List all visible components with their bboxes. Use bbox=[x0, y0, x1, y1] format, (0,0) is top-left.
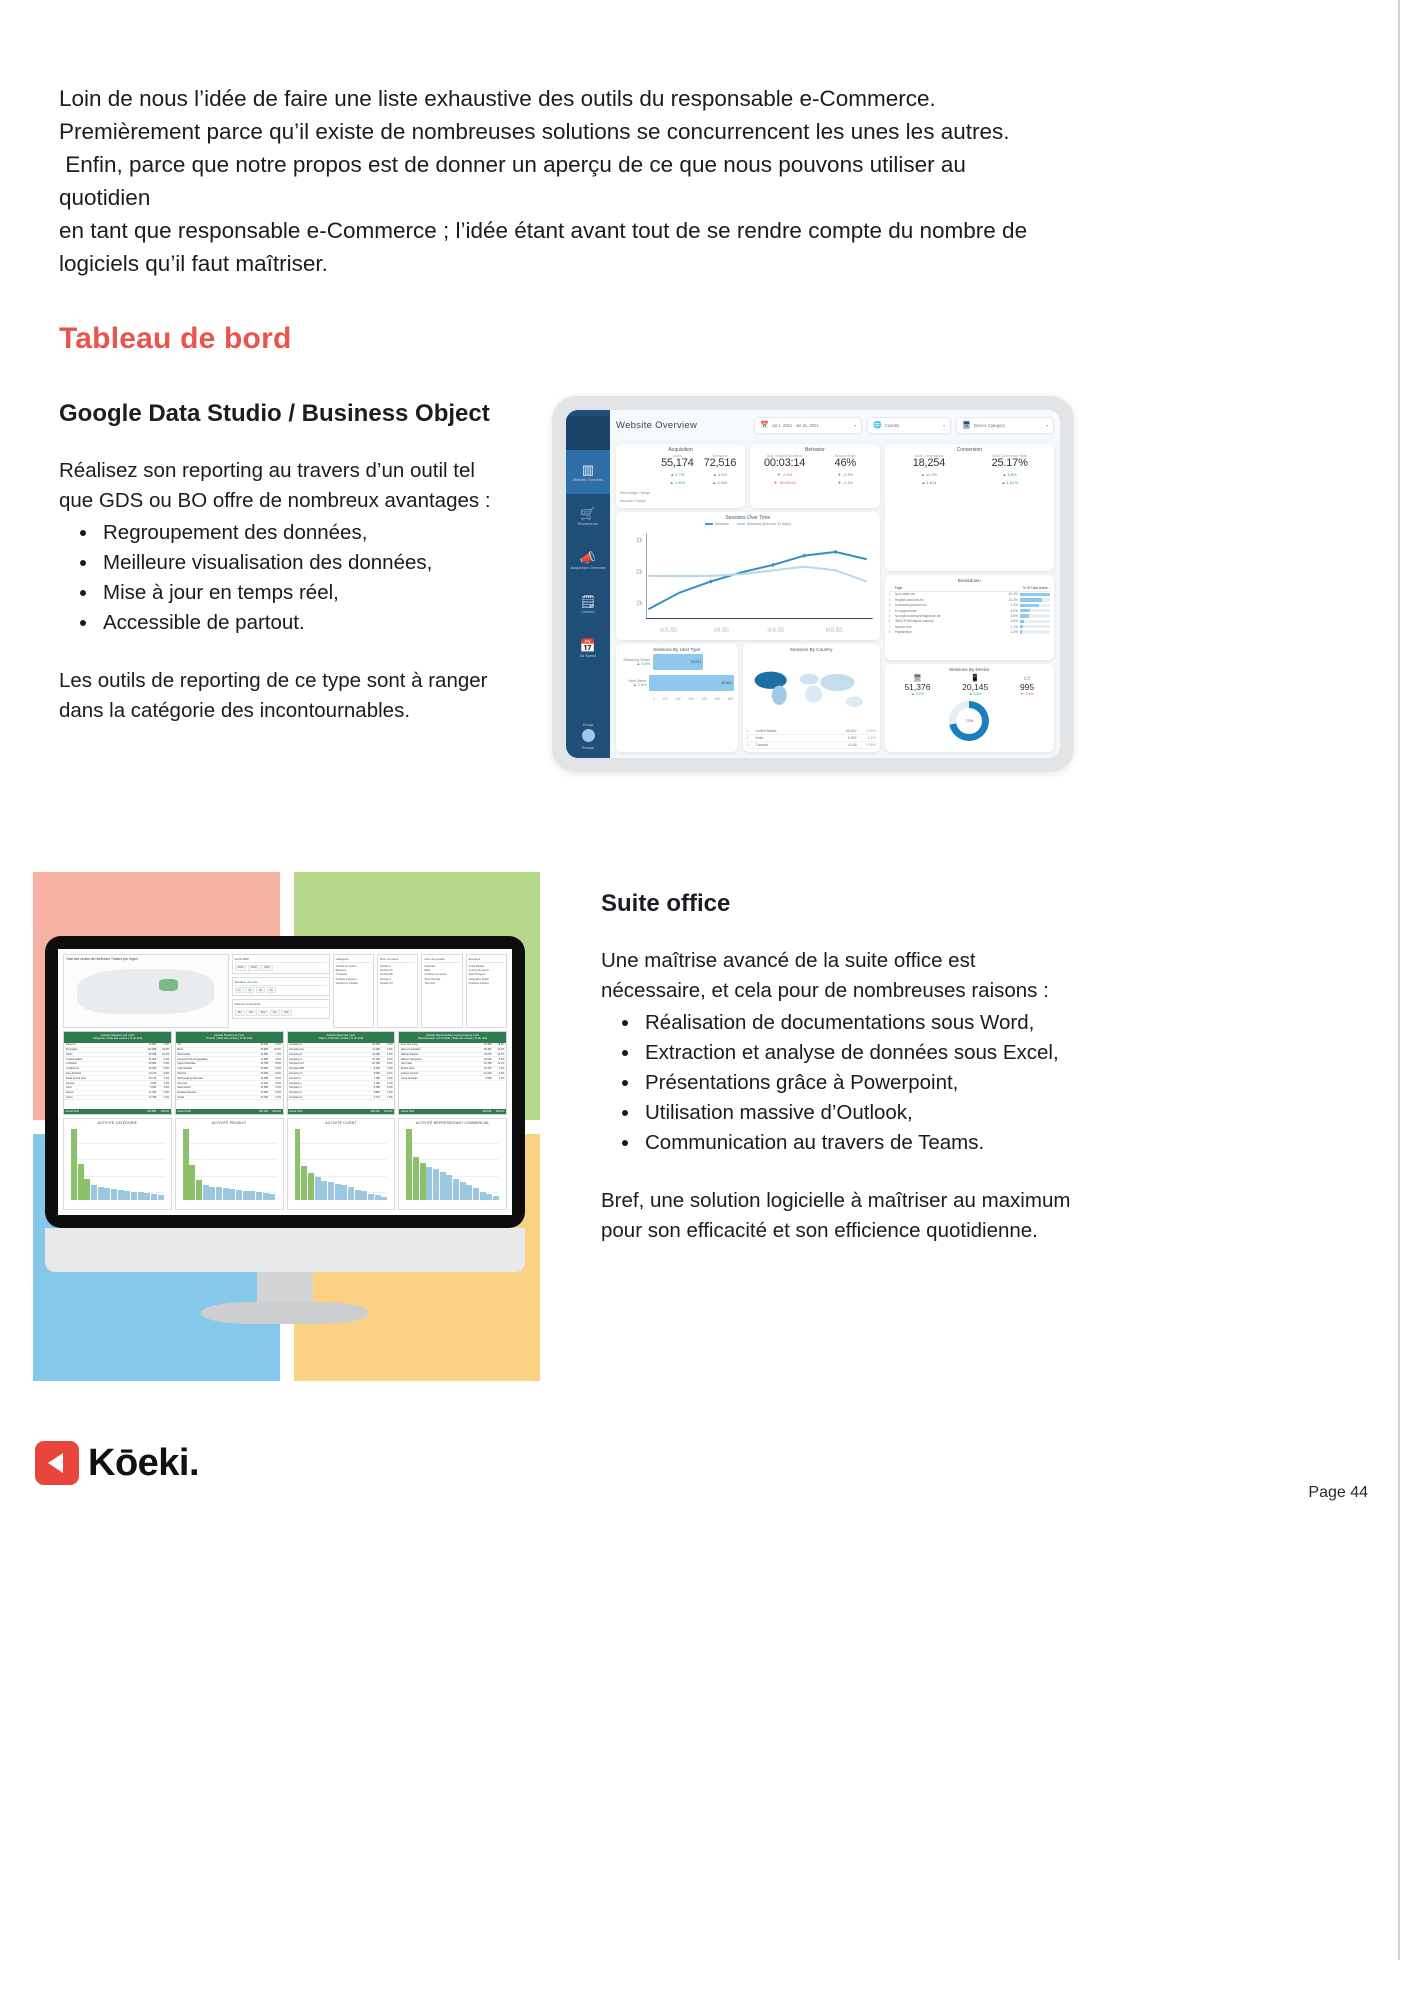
list-nom-produit[interactable]: Nom de produit Amandes Bière Confiture d… bbox=[421, 954, 462, 1028]
country-pct: -1.4% bbox=[860, 736, 876, 740]
cart-icon: 🛒 bbox=[580, 507, 596, 520]
slicer-chip[interactable]: S3 bbox=[256, 987, 265, 993]
gds-column: Google Data Studio / Business Object Réa… bbox=[59, 398, 514, 726]
bar bbox=[131, 1192, 137, 1200]
mobile-icon: 📱 bbox=[962, 674, 988, 682]
bar bbox=[78, 1164, 84, 1200]
chart-title: Sessions By User Type bbox=[620, 647, 734, 652]
world-map bbox=[747, 654, 876, 728]
page-path: /a-second-product-mv bbox=[895, 603, 1005, 607]
chart-title: ACTIVITÉ CATÉGORIE bbox=[64, 1119, 171, 1126]
monitor-mockup-image: Total des ventes de Northwind Traders pa… bbox=[45, 936, 525, 1326]
kpi-pct-change: ▲ 6.8% bbox=[1003, 472, 1017, 477]
bar bbox=[158, 1195, 164, 1200]
kpi-abs-change: ▼ -00:00:04 bbox=[774, 480, 796, 485]
bar-row: New Visitor ▲ 2.6% 49,541 bbox=[620, 675, 734, 691]
slicer-title: Semaine du mois bbox=[235, 980, 327, 986]
donut-label: 72% bbox=[949, 701, 989, 741]
date-range-filter[interactable]: 📅 Jul 1, 2021 - Jul 31, 2021 ▾ bbox=[754, 417, 862, 434]
pct-value: 1.3% bbox=[1005, 630, 1018, 634]
bar bbox=[183, 1129, 189, 1200]
office-closing: Bref, une solution logicielle à maîtrise… bbox=[601, 1186, 1071, 1246]
bar bbox=[375, 1195, 381, 1200]
bar-track bbox=[1020, 593, 1050, 596]
country-value: 33,412 bbox=[841, 729, 857, 733]
svg-text:Jul 01, 2021: Jul 01, 2021 bbox=[660, 626, 677, 634]
kpi-value: 25.17% bbox=[992, 457, 1028, 469]
bar bbox=[426, 1167, 432, 1200]
chart-title: ACTIVITÉ CLIENT bbox=[288, 1119, 395, 1126]
kpi-row: Acquisition Percentage Change Absolute C… bbox=[616, 444, 880, 508]
kpi-card-acquisition: Acquisition Percentage Change Absolute C… bbox=[616, 444, 745, 508]
table-row: Company K2 7341.0% bbox=[288, 1096, 395, 1101]
sessions-by-user-type-chart: Sessions By User Type Returning Visitor … bbox=[616, 644, 738, 752]
monitor-chin bbox=[45, 1228, 525, 1272]
slicer-chip[interactable]: S2 bbox=[245, 987, 254, 993]
pct-value: 7.4% bbox=[1005, 603, 1018, 607]
bar bbox=[236, 1190, 242, 1200]
section-title: Tableau de bord bbox=[59, 322, 291, 356]
page-number: Page 44 bbox=[1308, 1484, 1368, 1502]
table-row: 1United States33,412+2.1% bbox=[747, 728, 876, 735]
slicer-chip[interactable]: 2019 bbox=[235, 965, 247, 971]
kpi-abs-change: ▲ 2,910 bbox=[712, 480, 727, 485]
axis-tick: 50K bbox=[715, 697, 721, 701]
list-item[interactable]: Charlène Leblanc bbox=[469, 981, 504, 985]
country-value: 4,118 bbox=[841, 743, 857, 747]
bar bbox=[263, 1193, 269, 1200]
page-path: /your-style-mv bbox=[895, 592, 1005, 596]
svg-text:Jul 15, 2021: Jul 15, 2021 bbox=[767, 626, 784, 634]
kpi-group-label: Acquisition bbox=[620, 447, 741, 453]
kpi-metric-goal-completions: Goal Completions 18,254 ▲ 11.2% ▲ 1,814 bbox=[889, 454, 970, 568]
logo-text: Kōeki. bbox=[88, 1442, 199, 1485]
device-metrics-row: 🖥 51,376 ▲ 3.7% 📱 20,145 ▲ 1.4% bbox=[889, 674, 1050, 696]
country-name: India bbox=[756, 736, 838, 740]
pivot-table: Activité Client par mois Client | Total … bbox=[287, 1031, 396, 1115]
chart-title: ACTIVITÉ PRODUIT bbox=[176, 1119, 283, 1126]
bar bbox=[71, 1129, 77, 1200]
pareto-chart: ACTIVITÉ REPRÉSENTANT COMMERCIAL bbox=[398, 1118, 507, 1210]
bar bbox=[151, 1194, 157, 1200]
bar-series bbox=[183, 1129, 276, 1200]
sidebar-footer-label: Reload bbox=[582, 746, 594, 750]
pareto-chart: ACTIVITÉ CLIENT bbox=[287, 1118, 396, 1210]
chart-plot-area bbox=[64, 1126, 171, 1209]
slicer-date-commande[interactable]: Date de commande Jan Fév Mar Avr Mai bbox=[232, 999, 330, 1019]
bar bbox=[413, 1157, 419, 1200]
grand-total-row: Grand Total303 182100.0% bbox=[176, 1109, 283, 1114]
bar bbox=[118, 1190, 124, 1200]
bar-series bbox=[295, 1129, 388, 1200]
intro-line-2: Premièrement parce qu’il existe de nombr… bbox=[59, 115, 1034, 148]
bar bbox=[361, 1191, 367, 1200]
megaphone-icon: 📣 bbox=[580, 551, 596, 564]
row-index: 2 bbox=[747, 736, 753, 740]
bar-series bbox=[71, 1129, 164, 1200]
office-bullet-list: Réalisation de documentations sous Word,… bbox=[601, 1008, 1071, 1158]
kpi-card-behavior: Behavior Avg. Session Duration 00:03:14 … bbox=[750, 444, 879, 508]
pct-value: 10.2% bbox=[1005, 598, 1018, 602]
slicer-chip[interactable]: Mar bbox=[258, 1010, 268, 1016]
bar bbox=[84, 1179, 90, 1200]
svg-text:10k: 10k bbox=[636, 601, 642, 609]
date-range-label: Jul 1, 2021 - Jul 31, 2021 bbox=[772, 423, 819, 428]
country-name: Canada bbox=[756, 743, 838, 747]
page-path: /saucer-line bbox=[895, 625, 1005, 629]
kpi-pct-change: ▲ 4.2% bbox=[713, 472, 727, 477]
bar-track bbox=[1020, 620, 1050, 623]
list-item[interactable]: Thé Chai bbox=[424, 981, 459, 985]
bar bbox=[144, 1193, 150, 1200]
list-item: Réalisation de documentations sous Word, bbox=[641, 1008, 1071, 1038]
list-item: Accessible de partout. bbox=[99, 608, 514, 638]
bar bbox=[473, 1188, 479, 1200]
dashboard-title: Website Overview bbox=[616, 420, 697, 431]
bar bbox=[460, 1182, 466, 1200]
slicer-title: Vente BDP bbox=[235, 957, 327, 963]
kpi-value: 18,254 bbox=[913, 457, 945, 469]
usa-map-shape bbox=[77, 969, 214, 1014]
bar-track bbox=[1020, 609, 1050, 612]
excel-map-panel: Total des ventes de Northwind Traders pa… bbox=[63, 954, 229, 1028]
pct-value: 1.7% bbox=[1005, 625, 1018, 629]
column-pct[interactable]: % Of Total Users ↑ bbox=[1005, 586, 1050, 590]
pivot-table-title: Activité Représentant commercial par moi… bbox=[399, 1032, 506, 1043]
country-filter-label: Country bbox=[885, 423, 900, 428]
bar-track bbox=[1020, 604, 1050, 607]
map-highlight-region bbox=[159, 979, 179, 991]
kpi-metric-sessions: Sessions 72,516 ▲ 4.2% ▲ 2,910 bbox=[699, 454, 742, 505]
kpi-pct-change: ▼ -2.3% bbox=[837, 472, 853, 477]
kpi-pct-change: ▲ 3.7% bbox=[670, 472, 684, 477]
slicer-chip[interactable]: S4 bbox=[267, 987, 276, 993]
country-name: United States bbox=[756, 729, 838, 733]
device-tablet: ▭ 995 ▼ -0.6% bbox=[1020, 674, 1034, 696]
sidebar-item-ad-spend[interactable]: 📅 Ad Spend bbox=[566, 626, 610, 670]
bar bbox=[301, 1166, 307, 1200]
country-filter[interactable]: 🌐 Country ▾ bbox=[867, 417, 951, 434]
slicer-chip[interactable]: Jan bbox=[235, 1010, 245, 1016]
bar bbox=[308, 1173, 314, 1200]
sidebar-item-label: Website Overview bbox=[573, 478, 604, 482]
pct-value: 4.9% bbox=[1005, 609, 1018, 613]
intro-paragraph: Loin de nous l’idée de faire une liste e… bbox=[59, 82, 1034, 280]
bar bbox=[104, 1188, 110, 1200]
bar-axis: 0 10K 20K 30K 40K 50K 60K bbox=[620, 697, 734, 701]
dashboard-topbar: Website Overview 📅 Jul 1, 2021 - Jul 31,… bbox=[610, 410, 1060, 440]
bar bbox=[111, 1189, 117, 1200]
chart-title: Sessions By Device bbox=[889, 667, 1050, 672]
gds-paragraph: Réalisez son reporting au travers d’un o… bbox=[59, 456, 514, 516]
table-row: 2India6,902-1.4% bbox=[747, 735, 876, 742]
kpi-row-label: Percentage Change bbox=[620, 491, 656, 495]
bar-delta: ▲ 5.6% bbox=[620, 662, 650, 666]
sessions-over-time-chart: Sessions Over Time Sessions Sessions (pr… bbox=[616, 512, 880, 640]
svg-text:Jul 8, 2021: Jul 8, 2021 bbox=[714, 626, 729, 634]
kpi-abs-change: ▲ 1,953 bbox=[670, 480, 685, 485]
bar bbox=[315, 1177, 321, 1200]
chart-plot-area: 30k 20k 10k Jul 01, bbox=[621, 526, 875, 637]
intro-line-5: logiciels qu’il faut maîtriser. bbox=[59, 247, 1034, 280]
device-desktop: 🖥 51,376 ▲ 3.7% bbox=[904, 674, 930, 696]
pivot-table-title: Activité Produit par mois Produit | Tota… bbox=[176, 1032, 283, 1043]
bar-track bbox=[1020, 598, 1050, 601]
slicer-chips: S1 S2 S3 S4 bbox=[235, 987, 327, 993]
grand-total-row: Grand Total303 182100.0% bbox=[288, 1109, 395, 1114]
list-item[interactable]: Viandes et Volailles bbox=[336, 981, 371, 985]
legend-swatch-icon bbox=[705, 523, 713, 525]
list-item: Extraction et analyse de données sous Ex… bbox=[641, 1038, 1071, 1068]
svg-text:20k: 20k bbox=[636, 569, 642, 577]
page-path: /english-account-mt bbox=[895, 598, 1005, 602]
sidebar-item-ecommerce[interactable]: 🛒 Ecommerce bbox=[566, 494, 610, 538]
slicer-chip[interactable]: Avr bbox=[270, 1010, 280, 1016]
country-list: 1United States33,412+2.1% 2India6,902-1.… bbox=[747, 728, 876, 749]
list-item: Meilleure visualisation des données, bbox=[99, 548, 514, 578]
chevron-down-icon: ▾ bbox=[854, 423, 856, 428]
pareto-chart: ACTIVITÉ PRODUIT bbox=[175, 1118, 284, 1210]
office-paragraph: Une maîtrise avancé de la suite office e… bbox=[601, 946, 1071, 1006]
bar bbox=[256, 1192, 262, 1200]
kpi-value: 55,174 bbox=[661, 457, 693, 469]
kpi-metric-avg-session-duration: Avg. Session Duration 00:03:14 ▼ -2.1% ▼… bbox=[754, 454, 815, 505]
bar-value: 23,512 bbox=[691, 660, 701, 664]
chart-plot-area bbox=[288, 1126, 395, 1209]
bar bbox=[493, 1196, 499, 1200]
svg-text:Jul 22, 2021: Jul 22, 2021 bbox=[826, 626, 843, 634]
list-title: Nom de produit bbox=[424, 957, 459, 963]
table-row: 8/registration1.3% bbox=[889, 629, 1050, 634]
sidebar-item-website-overview[interactable]: ▥ Website Overview bbox=[566, 450, 610, 494]
list-title: Catégorie bbox=[336, 957, 371, 963]
slicer-chip[interactable]: 2020 bbox=[248, 965, 260, 971]
country-value: 6,902 bbox=[841, 736, 857, 740]
legend-swatch-icon bbox=[737, 523, 745, 525]
page-path: /360/LP-MC/liquid-makeup bbox=[895, 619, 1005, 623]
tablet-frame: ▥ Website Overview 🛒 Ecommerce 📣 Acquisi… bbox=[552, 396, 1074, 772]
axis-tick: 40K bbox=[702, 697, 708, 701]
bar bbox=[196, 1180, 202, 1200]
slicer-chip[interactable]: Mai bbox=[281, 1010, 291, 1016]
kpi-row-label: Absolute Change bbox=[620, 499, 656, 503]
bar-chart-icon: ▥ bbox=[582, 463, 594, 476]
bar bbox=[368, 1194, 374, 1200]
slicer-chip[interactable]: S1 bbox=[235, 987, 244, 993]
grand-total-row: Grand Total303 182100.0% bbox=[399, 1109, 506, 1114]
map-caption: Total des ventes de Northwind Traders pa… bbox=[64, 955, 228, 963]
bar bbox=[348, 1187, 354, 1200]
bar bbox=[269, 1194, 275, 1200]
device-delta: ▲ 3.7% bbox=[904, 692, 930, 696]
calendar-icon: 📅 bbox=[580, 639, 596, 652]
bar bbox=[249, 1191, 255, 1200]
monitor-stand-neck bbox=[257, 1272, 313, 1306]
monitor-stand-base bbox=[201, 1302, 369, 1324]
row-index: 3 bbox=[747, 743, 753, 747]
sidebar-item-label: Group bbox=[583, 723, 594, 727]
list-categorie[interactable]: Catégorie Articles de cuisine... Boisson… bbox=[333, 954, 374, 1028]
chart-plot-area bbox=[399, 1126, 506, 1209]
dashboard-right-column: Conversion Goal Completions 18,254 ▲ 11.… bbox=[885, 444, 1054, 752]
page-path: /yourgirl-makeups/fragrance-ha. bbox=[895, 614, 1005, 618]
list-item[interactable]: Société CC bbox=[380, 981, 415, 985]
column-page: Page bbox=[895, 586, 1005, 590]
kpi-value: 00:03:14 bbox=[764, 457, 805, 469]
grand-total-row: Grand Total303 888100.0% bbox=[64, 1109, 171, 1114]
bar bbox=[480, 1192, 486, 1200]
slicer-chips: Jan Fév Mar Avr Mai bbox=[235, 1010, 327, 1016]
bar-delta: ▲ 2.6% bbox=[620, 683, 646, 687]
page-icon: 🗒 bbox=[580, 595, 597, 608]
table-title: Breakdown bbox=[889, 578, 1050, 583]
chart-title: Sessions By Country bbox=[747, 647, 876, 652]
chevron-down-icon: ▾ bbox=[1046, 423, 1048, 428]
slicer-title: Date de commande bbox=[235, 1002, 327, 1008]
device-category-filter[interactable]: 🖥 Device Category ▾ bbox=[956, 417, 1054, 434]
breakdown-table: Breakdown Page % Of Total Users ↑ 1/your… bbox=[885, 575, 1054, 659]
chart-title: ACTIVITÉ REPRÉSENTANT COMMERCIAL bbox=[399, 1119, 506, 1126]
intro-line-3: Enfin, parce que notre propos est de don… bbox=[59, 148, 1034, 214]
bar bbox=[453, 1179, 459, 1200]
bar bbox=[209, 1187, 215, 1200]
kpi-metric-users: Users 55,174 ▲ 3.7% ▲ 1,953 bbox=[656, 454, 699, 505]
kpi-value: 72,516 bbox=[704, 457, 736, 469]
pivot-table-title: Activité Catégorie par mois Catégorie | … bbox=[64, 1032, 171, 1043]
list-item: Regroupement des données, bbox=[99, 518, 514, 548]
pivot-table: Activité Catégorie par mois Catégorie | … bbox=[63, 1031, 172, 1115]
country-pct: +2.1% bbox=[860, 729, 876, 733]
slicer-semaine[interactable]: Semaine du mois S1 S2 S3 S4 bbox=[232, 977, 330, 997]
sidebar-item-label: Content bbox=[581, 610, 594, 614]
bar bbox=[321, 1181, 327, 1200]
bar bbox=[420, 1163, 426, 1200]
slicer-chips: 2019 2020 2021 bbox=[235, 965, 327, 971]
monitor-screen: Total des ventes de Northwind Traders pa… bbox=[58, 949, 512, 1215]
axis-tick: 30K bbox=[688, 697, 694, 701]
device-delta: ▼ -0.6% bbox=[1020, 692, 1034, 696]
bar-label: Returning Visitor ▲ 5.6% bbox=[620, 658, 650, 666]
page-path: /registration bbox=[895, 630, 1005, 634]
bar bbox=[328, 1182, 334, 1200]
dashboard-bottom-row: Sessions By User Type Returning Visitor … bbox=[616, 644, 880, 752]
koeki-logo: Kōeki. bbox=[35, 1441, 199, 1485]
bar bbox=[381, 1197, 387, 1200]
kpi-pct-change: ▼ -2.1% bbox=[777, 472, 793, 477]
list-title: Employé bbox=[469, 957, 504, 963]
desktop-icon: 🖥 bbox=[904, 674, 930, 682]
bar-fill: 49,541 bbox=[649, 675, 733, 691]
tablet-mockup-image: ▥ Website Overview 🛒 Ecommerce 📣 Acquisi… bbox=[552, 396, 1074, 772]
gds-heading: Google Data Studio / Business Object bbox=[59, 398, 514, 430]
slicer-chip[interactable]: 2021 bbox=[261, 965, 273, 971]
kpi-pct-change: ▲ 11.2% bbox=[921, 472, 937, 477]
kpi-value: 46% bbox=[835, 457, 856, 469]
bar-fill: 23,512 bbox=[653, 654, 703, 670]
device-filter-label: Device Category bbox=[974, 423, 1005, 428]
bar-label: New Visitor ▲ 2.6% bbox=[620, 679, 646, 687]
axis-tick: 0 bbox=[653, 697, 655, 701]
bar bbox=[446, 1175, 452, 1200]
list-title: Nom du client bbox=[380, 957, 415, 963]
bar-track bbox=[1020, 614, 1050, 617]
excel-dashboard: Total des ventes de Northwind Traders pa… bbox=[58, 949, 512, 1215]
bar bbox=[335, 1184, 341, 1200]
axis-tick: 20K bbox=[675, 697, 681, 701]
sessions-by-device-chart: Sessions By Device 🖥 51,376 ▲ 3.7% bbox=[885, 664, 1054, 752]
kpi-group-label: Conversion bbox=[889, 447, 1050, 453]
excel-pivot-tables: Activité Catégorie par mois Catégorie | … bbox=[63, 1031, 507, 1115]
pivot-table: Activité Produit par mois Produit | Tota… bbox=[175, 1031, 284, 1115]
bar bbox=[243, 1191, 249, 1200]
sidebar-item-content[interactable]: 🗒 Content bbox=[566, 582, 610, 626]
bar bbox=[91, 1185, 97, 1200]
list-nom-client[interactable]: Nom du client Société A Société AA Socié… bbox=[377, 954, 418, 1028]
kpi-metric-goal-conversion-rate: Goal Conversion Rate 25.17% ▲ 6.8% ▲ 1.6… bbox=[969, 454, 1050, 568]
bar bbox=[223, 1188, 229, 1200]
bar-value: 49,541 bbox=[721, 681, 731, 685]
bar bbox=[466, 1185, 472, 1200]
chevron-down-icon: ▾ bbox=[943, 423, 945, 428]
sidebar-item-acquisition[interactable]: 📣 Acquisition Overview bbox=[566, 538, 610, 582]
bar bbox=[124, 1191, 130, 1200]
tablet-screen: ▥ Website Overview 🛒 Ecommerce 📣 Acquisi… bbox=[566, 410, 1060, 758]
list-item: Utilisation massive d’Outlook, bbox=[641, 1098, 1071, 1128]
kpi-abs-change: ▲ 1,814 bbox=[921, 480, 936, 485]
pct-value: 4.8% bbox=[1005, 614, 1018, 618]
bar-row: Returning Visitor ▲ 5.6% 23,512 bbox=[620, 654, 734, 670]
slicer-chip[interactable]: Fév bbox=[246, 1010, 256, 1016]
intro-line-1: Loin de nous l’idée de faire une liste e… bbox=[59, 82, 1034, 115]
bar bbox=[341, 1185, 347, 1200]
excel-charts-row: ACTIVITÉ CATÉGORIEACTIVITÉ PRODUITACTIVI… bbox=[63, 1118, 507, 1210]
bar bbox=[433, 1169, 439, 1200]
bar bbox=[216, 1187, 222, 1200]
sidebar-item-group[interactable]: Group Reload bbox=[566, 714, 610, 758]
device-mobile: 📱 20,145 ▲ 1.4% bbox=[962, 674, 988, 696]
kpi-abs-change: ▼ -1.1% bbox=[837, 480, 853, 485]
sidebar-item-label: Ecommerce bbox=[578, 522, 598, 526]
bar bbox=[98, 1187, 104, 1200]
calendar-icon: 📅 bbox=[760, 422, 769, 429]
bar-series bbox=[406, 1129, 499, 1200]
document-page: Loin de nous l’idée de faire une liste e… bbox=[0, 0, 1414, 2000]
gds-closing: Les outils de reporting de ce type sont … bbox=[59, 666, 514, 726]
chart-plot-area bbox=[176, 1126, 283, 1209]
office-column: Suite office Une maîtrise avancé de la s… bbox=[601, 890, 1071, 1246]
device-value: 995 bbox=[1020, 682, 1034, 692]
list-item: Communication au travers de Teams. bbox=[641, 1128, 1071, 1158]
table-row: Chaid10 1882.0% bbox=[176, 1096, 283, 1101]
row-index: 1 bbox=[747, 729, 753, 733]
page-path: /in-support/cart bbox=[895, 609, 1005, 613]
play-triangle-icon bbox=[35, 1441, 79, 1485]
slicer-vente-bdp[interactable]: Vente BDP 2019 2020 2021 bbox=[232, 954, 330, 974]
dashboard-body: Acquisition Percentage Change Absolute C… bbox=[610, 440, 1060, 758]
avatar-icon bbox=[582, 729, 595, 742]
bar bbox=[440, 1172, 446, 1200]
list-item: Présentations grâce à Powerpoint, bbox=[641, 1068, 1071, 1098]
excel-top-row: Total des ventes de Northwind Traders pa… bbox=[63, 954, 507, 1028]
bar bbox=[203, 1185, 209, 1200]
bar bbox=[355, 1190, 361, 1200]
country-pct: +0.8% bbox=[860, 743, 876, 747]
excel-slicers: Vente BDP 2019 2020 2021 Semaine du mois bbox=[232, 954, 330, 1028]
pct-value: 20.1% bbox=[1005, 592, 1018, 596]
sidebar-item-label: Ad Spend bbox=[580, 654, 597, 658]
dashboard-sidebar: ▥ Website Overview 🛒 Ecommerce 📣 Acquisi… bbox=[566, 410, 610, 758]
list-employe[interactable]: Employé Anaïs Balade Audrey Dumas M. Ala… bbox=[466, 954, 507, 1028]
